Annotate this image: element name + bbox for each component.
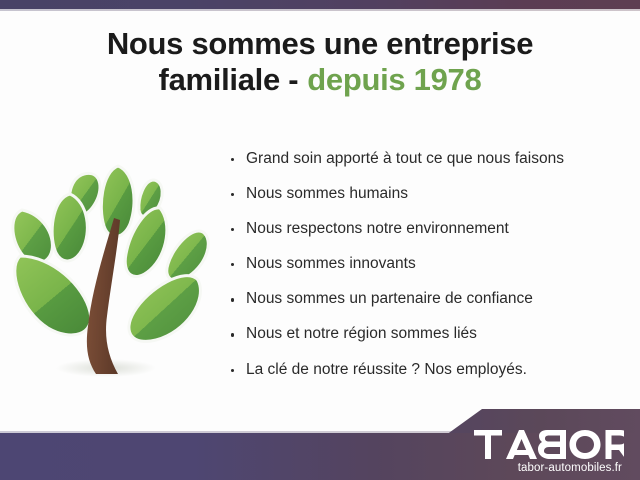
page-title-accent: depuis 1978 bbox=[307, 62, 481, 97]
bullet-dot-icon bbox=[231, 369, 234, 372]
bullet-dot-icon bbox=[231, 298, 234, 301]
page-title-line-2-plain: familiale - bbox=[159, 62, 299, 97]
bullet-dot-icon bbox=[231, 263, 234, 266]
list-item: Nous et notre région sommes liés bbox=[228, 325, 628, 344]
list-item: La clé de notre réussite ? Nos employés. bbox=[228, 361, 628, 380]
list-item: Nous respectons notre environnement bbox=[228, 220, 628, 239]
list-item-label: Grand soin apporté à tout ce que nous fa… bbox=[246, 150, 564, 167]
list-item: Nous sommes humains bbox=[228, 185, 628, 204]
tree-trunk bbox=[87, 218, 120, 374]
tabor-wordmark-icon bbox=[474, 430, 624, 460]
list-item: Nous sommes un partenaire de confiance bbox=[228, 290, 628, 309]
page-title-line-1: Nous sommes une entreprise bbox=[0, 26, 640, 62]
list-item-label: Nous respectons notre environnement bbox=[246, 220, 509, 237]
page-title: Nous sommes une entreprise familiale -de… bbox=[0, 26, 640, 98]
bullet-dot-icon bbox=[231, 193, 234, 196]
value-bullet-list: Grand soin apporté à tout ce que nous fa… bbox=[228, 150, 628, 379]
bullet-dot-icon bbox=[231, 158, 234, 161]
slide-canvas: Nous sommes une entreprise familiale -de… bbox=[0, 0, 640, 480]
bullet-dot-icon bbox=[231, 228, 234, 231]
page-title-line-2: familiale -depuis 1978 bbox=[0, 62, 640, 98]
list-item-label: La clé de notre réussite ? Nos employés. bbox=[246, 361, 527, 378]
list-item-label: Nous et notre région sommes liés bbox=[246, 325, 477, 342]
list-item: Nous sommes innovants bbox=[228, 255, 628, 274]
list-item-label: Nous sommes innovants bbox=[246, 255, 416, 272]
tree-illustration bbox=[8, 140, 218, 390]
brand-logo[interactable]: tabor-automobiles.fr bbox=[440, 430, 624, 474]
list-item: Grand soin apporté à tout ce que nous fa… bbox=[228, 150, 628, 169]
bullet-dot-icon bbox=[231, 333, 234, 336]
top-accent-strip bbox=[0, 0, 640, 9]
list-item-label: Nous sommes humains bbox=[246, 185, 408, 202]
list-item-label: Nous sommes un partenaire de confiance bbox=[246, 290, 533, 307]
top-accent-strip-shadow bbox=[0, 9, 640, 11]
brand-url: tabor-automobiles.fr bbox=[440, 462, 624, 474]
tree-illustration-svg bbox=[8, 140, 218, 390]
